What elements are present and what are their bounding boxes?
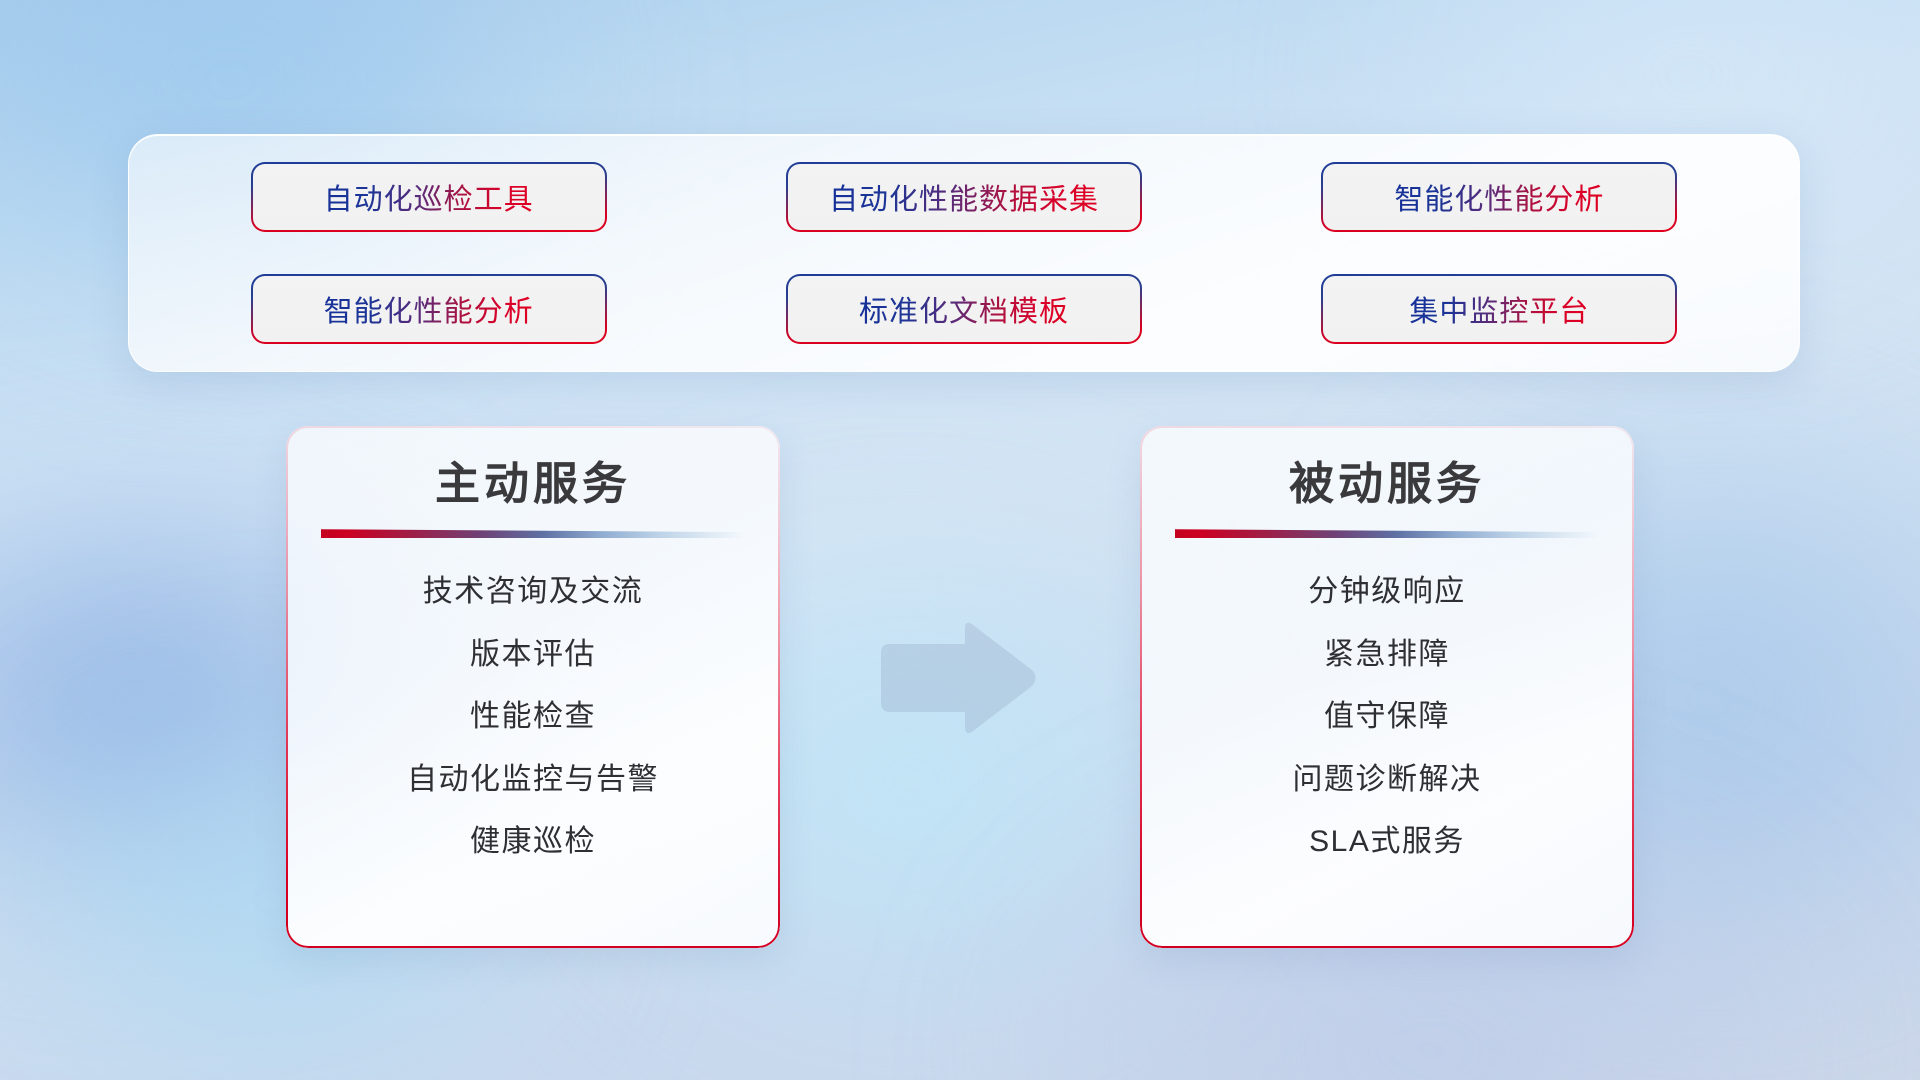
capability-chip[interactable]: 自动化巡检工具 bbox=[251, 162, 607, 232]
capability-chip-label: 标准化文档模板 bbox=[859, 288, 1069, 330]
capability-chip-label: 自动化巡检工具 bbox=[324, 176, 534, 218]
service-card-reactive[interactable]: 被动服务 分钟级响应 紧急排障 值守保障 问题诊断解决 SLA式服务 bbox=[1140, 426, 1634, 948]
title-underline-rule bbox=[321, 529, 745, 538]
service-item: 性能检查 bbox=[470, 697, 596, 738]
service-card-title: 被动服务 bbox=[1289, 456, 1485, 512]
right-arrow-icon bbox=[873, 618, 1039, 738]
slide-canvas: 自动化巡检工具 自动化性能数据采集 智能化性能分析 智能化性能分析 标准化文档模… bbox=[0, 0, 1920, 1080]
service-item: 值守保障 bbox=[1324, 697, 1450, 738]
title-underline-rule bbox=[1175, 529, 1599, 538]
service-card-body: 主动服务 技术咨询及交流 版本评估 性能检查 自动化监控与告警 健康巡检 bbox=[286, 426, 780, 948]
service-item: 自动化监控与告警 bbox=[407, 760, 659, 801]
service-item: 技术咨询及交流 bbox=[423, 572, 644, 613]
service-item: 健康巡检 bbox=[470, 822, 596, 863]
service-item-list: 分钟级响应 紧急排障 值守保障 问题诊断解决 SLA式服务 bbox=[1180, 572, 1594, 863]
service-item: SLA式服务 bbox=[1309, 822, 1465, 863]
service-item-list: 技术咨询及交流 版本评估 性能检查 自动化监控与告警 健康巡检 bbox=[326, 572, 740, 863]
service-item: 问题诊断解决 bbox=[1293, 760, 1482, 801]
capability-chip-label: 集中监控平台 bbox=[1409, 288, 1589, 330]
service-item: 分钟级响应 bbox=[1308, 572, 1466, 613]
service-card-proactive[interactable]: 主动服务 技术咨询及交流 版本评估 性能检查 自动化监控与告警 健康巡检 bbox=[286, 426, 780, 948]
capability-chip[interactable]: 自动化性能数据采集 bbox=[786, 162, 1142, 232]
capability-chip-label: 智能化性能分析 bbox=[1394, 176, 1604, 218]
capability-chip-label: 智能化性能分析 bbox=[324, 288, 534, 330]
service-card-title: 主动服务 bbox=[435, 456, 631, 512]
capability-chips-panel: 自动化巡检工具 自动化性能数据采集 智能化性能分析 智能化性能分析 标准化文档模… bbox=[128, 134, 1800, 372]
service-card-body: 被动服务 分钟级响应 紧急排障 值守保障 问题诊断解决 SLA式服务 bbox=[1140, 426, 1634, 948]
capability-chip[interactable]: 集中监控平台 bbox=[1321, 274, 1677, 344]
service-item: 紧急排障 bbox=[1324, 635, 1450, 676]
capability-chip[interactable]: 标准化文档模板 bbox=[786, 274, 1142, 344]
capability-chip-label: 自动化性能数据采集 bbox=[829, 176, 1099, 218]
capability-chip[interactable]: 智能化性能分析 bbox=[1321, 162, 1677, 232]
service-item: 版本评估 bbox=[470, 635, 596, 676]
capability-chip[interactable]: 智能化性能分析 bbox=[251, 274, 607, 344]
